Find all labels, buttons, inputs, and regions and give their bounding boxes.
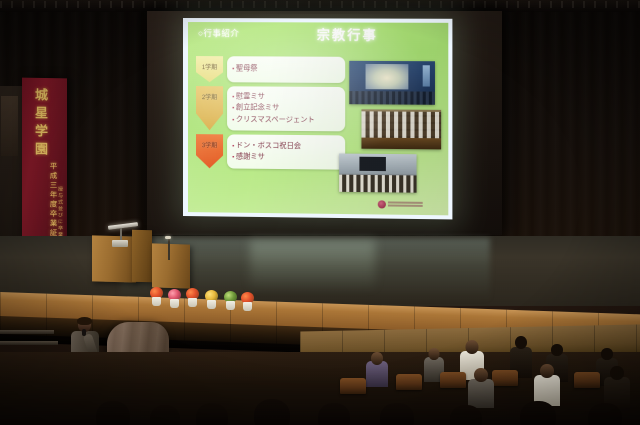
auditorium-seat (492, 370, 518, 386)
term-1-event-1: 聖母祭 (232, 64, 340, 76)
audience-head-silhouette (520, 401, 556, 425)
auditorium-scene: 城星学園 平成三年度卒業証書 授与式並びに卒業記念品贈呈式 ○行事紹介 宗教行事… (0, 0, 640, 425)
crest-icon (378, 200, 386, 208)
chapel-mass-photo (349, 61, 435, 105)
wooden-podium-right (152, 243, 190, 288)
hall-gathering-photo (339, 153, 416, 192)
flower-arrangement (241, 292, 254, 311)
term-row-2: 2学期 慰霊ミサ 創立記念ミサ クリスマスページェント (196, 86, 345, 131)
audience-head-silhouette (150, 405, 180, 425)
term-1-events: 聖母祭 (227, 56, 345, 83)
student-crowd (361, 111, 441, 138)
altar-area (366, 64, 409, 90)
audience-head-silhouette (196, 403, 228, 425)
term-3-label: 3学期 (202, 140, 217, 149)
term-3-event-2: 感謝ミサ (232, 151, 340, 164)
audience-head-silhouette (588, 403, 622, 425)
auditorium-seat (574, 372, 600, 388)
term-1-label: 1学期 (202, 62, 217, 71)
term-row-1: 1学期 聖母祭 (196, 56, 345, 83)
audience-head-silhouette (380, 403, 414, 425)
flower-arrangement (205, 290, 218, 309)
lamp-stem (120, 228, 122, 240)
foreground-audience-heads (0, 388, 640, 425)
term-3-events: ドン・ボスコ祝日会 感謝ミサ (227, 134, 345, 169)
slide-content: ○行事紹介 宗教行事 1学期 聖母祭 2学期 慰霊ミサ 創立記念ミサ (188, 22, 448, 215)
audience-head-silhouette (96, 401, 130, 425)
projected-slide: ○行事紹介 宗教行事 1学期 聖母祭 2学期 慰霊ミサ 創立記念ミサ (183, 18, 452, 219)
flower-arrangement (150, 287, 163, 306)
audience-head-silhouette (318, 403, 350, 425)
auditorium-seat (440, 372, 466, 388)
hall-screen (359, 157, 385, 171)
presenter-hair (77, 317, 92, 325)
school-name-mark (388, 201, 423, 208)
term-2-event-2: 創立記念ミサ (232, 103, 340, 115)
flower-arrangement (186, 288, 199, 307)
term-2-label: 2学期 (202, 92, 217, 101)
slide-header-left-label: ○行事紹介 (198, 27, 239, 39)
audience-head-silhouette (254, 399, 290, 425)
term-2-events: 慰霊ミサ 創立記念ミサ クリスマスページェント (227, 86, 345, 131)
congregation-pews (349, 91, 435, 105)
hall-audience (339, 175, 416, 193)
chapel-window (423, 65, 430, 86)
term-3-event-1: ドン・ボスコ祝日会 (232, 140, 340, 153)
chevron-term-3: 3学期 (196, 134, 223, 168)
flower-arrangement (224, 291, 236, 309)
school-crest-logo (378, 200, 423, 209)
ceiling-lights (0, 1, 640, 8)
floor-microphone-stand (168, 238, 170, 260)
stage-floor-reflection (250, 240, 375, 288)
audience-head-silhouette (450, 405, 482, 425)
wall-panel (1, 96, 18, 156)
microphone-icon (165, 236, 171, 239)
slide-header: ○行事紹介 宗教行事 (188, 22, 448, 49)
podium-equipment-box (112, 240, 128, 247)
term-row-3: 3学期 ドン・ボスコ祝日会 感謝ミサ (196, 134, 345, 170)
chevron-term-1: 1学期 (196, 56, 223, 82)
assembly-desks (361, 138, 441, 150)
chevron-term-2: 2学期 (196, 86, 223, 130)
banner-main-text: 城星学園 (31, 88, 50, 160)
students-assembly-photo (361, 109, 441, 149)
slide-title: 宗教行事 (317, 24, 378, 43)
term-2-event-3: クリスマスページェント (232, 114, 340, 126)
handheld-microphone-icon (82, 329, 86, 336)
wooden-podium-center (132, 230, 152, 283)
audience-member (366, 352, 388, 386)
flower-arrangement (168, 289, 181, 308)
